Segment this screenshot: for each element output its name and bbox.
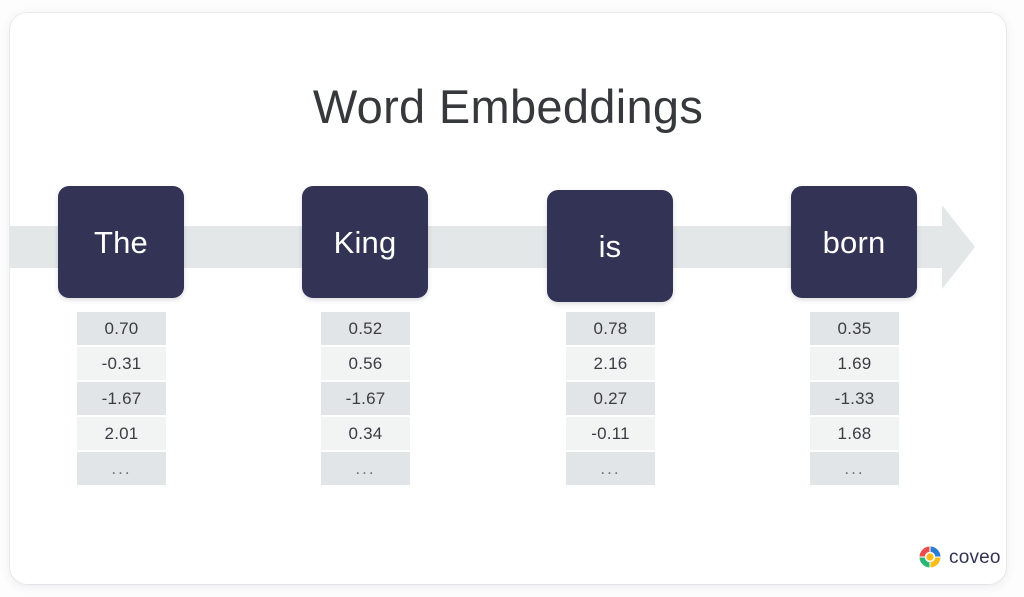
vector-cell: 0.52 — [321, 312, 410, 345]
vector-cell: 0.56 — [321, 347, 410, 380]
vector-cell: 2.16 — [566, 347, 655, 380]
vector-cell: -0.11 — [566, 417, 655, 450]
vector-stack-born: 0.35 1.69 -1.33 1.68 ... — [810, 312, 899, 487]
word-label: is — [599, 231, 622, 262]
word-box-the[interactable]: The — [58, 186, 184, 298]
brand-wordmark: coveo — [949, 548, 1001, 567]
token-columns: The 0.70 -0.31 -1.67 2.01 ... King 0.52 … — [10, 13, 1006, 584]
vector-cell-ellipsis: ... — [77, 452, 166, 485]
vector-cell-ellipsis: ... — [810, 452, 899, 485]
vector-cell-ellipsis: ... — [566, 452, 655, 485]
vector-cell: 0.27 — [566, 382, 655, 415]
vector-cell: 1.69 — [810, 347, 899, 380]
vector-cell-ellipsis: ... — [321, 452, 410, 485]
word-label: born — [823, 227, 886, 258]
vector-cell: 2.01 — [77, 417, 166, 450]
slide-root: Word Embeddings The 0.70 -0.31 -1.67 2.0… — [0, 0, 1024, 597]
vector-stack-the: 0.70 -0.31 -1.67 2.01 ... — [77, 312, 166, 487]
vector-cell: 0.70 — [77, 312, 166, 345]
vector-stack-king: 0.52 0.56 -1.67 0.34 ... — [321, 312, 410, 487]
word-label: King — [334, 227, 397, 258]
brand-logo: coveo ™ — [918, 545, 1006, 569]
word-box-is[interactable]: is — [547, 190, 673, 302]
vector-cell: 0.78 — [566, 312, 655, 345]
vector-cell: -1.67 — [77, 382, 166, 415]
vector-cell: -1.67 — [321, 382, 410, 415]
coveo-ring-logo-icon — [918, 545, 942, 569]
vector-cell: -1.33 — [810, 382, 899, 415]
vector-cell: 1.68 — [810, 417, 899, 450]
vector-cell: 0.35 — [810, 312, 899, 345]
vector-cell: -0.31 — [77, 347, 166, 380]
word-box-king[interactable]: King — [302, 186, 428, 298]
word-label: The — [94, 227, 148, 258]
vector-stack-is: 0.78 2.16 0.27 -0.11 ... — [566, 312, 655, 487]
vector-cell: 0.34 — [321, 417, 410, 450]
word-box-born[interactable]: born — [791, 186, 917, 298]
slide-card: Word Embeddings The 0.70 -0.31 -1.67 2.0… — [10, 13, 1006, 584]
